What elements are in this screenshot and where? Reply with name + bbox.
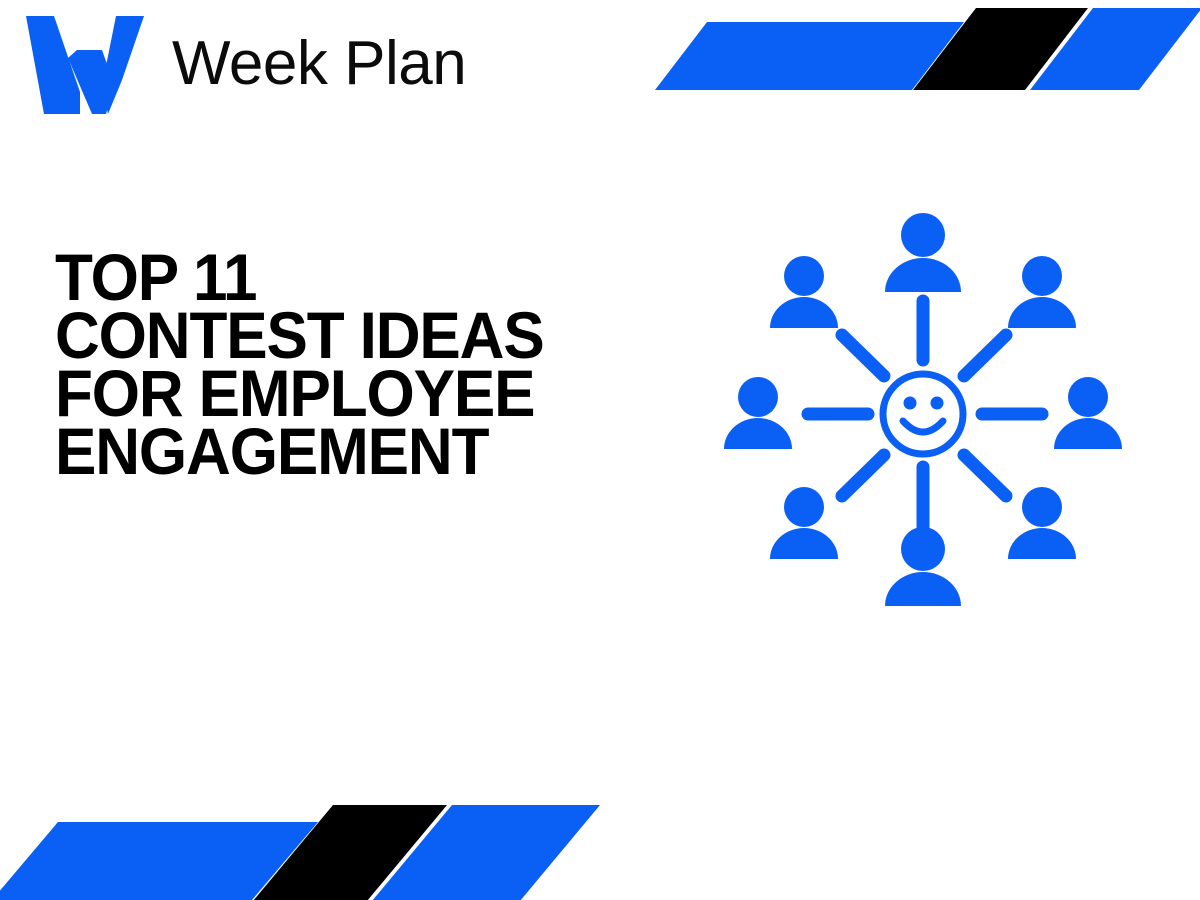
person-node-bottom-right — [1008, 487, 1076, 559]
person-node-right — [1054, 377, 1122, 449]
person-node-top-left — [770, 256, 838, 328]
person-node-top — [885, 213, 961, 292]
headline: TOP 11 CONTEST IDEAS FOR EMPLOYEE ENGAGE… — [55, 248, 675, 480]
brand-lockup: Week Plan — [22, 14, 466, 114]
headline-line-4: ENGAGEMENT — [55, 422, 638, 480]
smiley-face-icon — [883, 374, 963, 454]
network-spokes — [808, 301, 1042, 527]
spoke-top-right — [964, 335, 1006, 376]
spoke-bottom-left — [842, 455, 884, 496]
person-node-bottom-left — [770, 487, 838, 559]
spoke-bottom-right — [964, 455, 1006, 496]
poster-canvas: Week Plan TOP 11 CONTEST IDEAS FOR EMPLO… — [0, 0, 1200, 900]
network-person-nodes — [724, 213, 1122, 606]
spoke-top-left — [842, 335, 884, 376]
person-node-top-right — [1008, 256, 1076, 328]
employee-engagement-network-illustration — [716, 205, 1128, 615]
ribbon-band-blue-wide — [655, 22, 964, 90]
brand-name: Week Plan — [172, 33, 466, 95]
top-right-ribbon — [620, 0, 1200, 100]
person-node-left — [724, 377, 792, 449]
bottom-left-ribbon — [0, 795, 620, 900]
week-plan-w-logo-icon — [22, 14, 150, 114]
person-node-bottom — [885, 527, 961, 606]
